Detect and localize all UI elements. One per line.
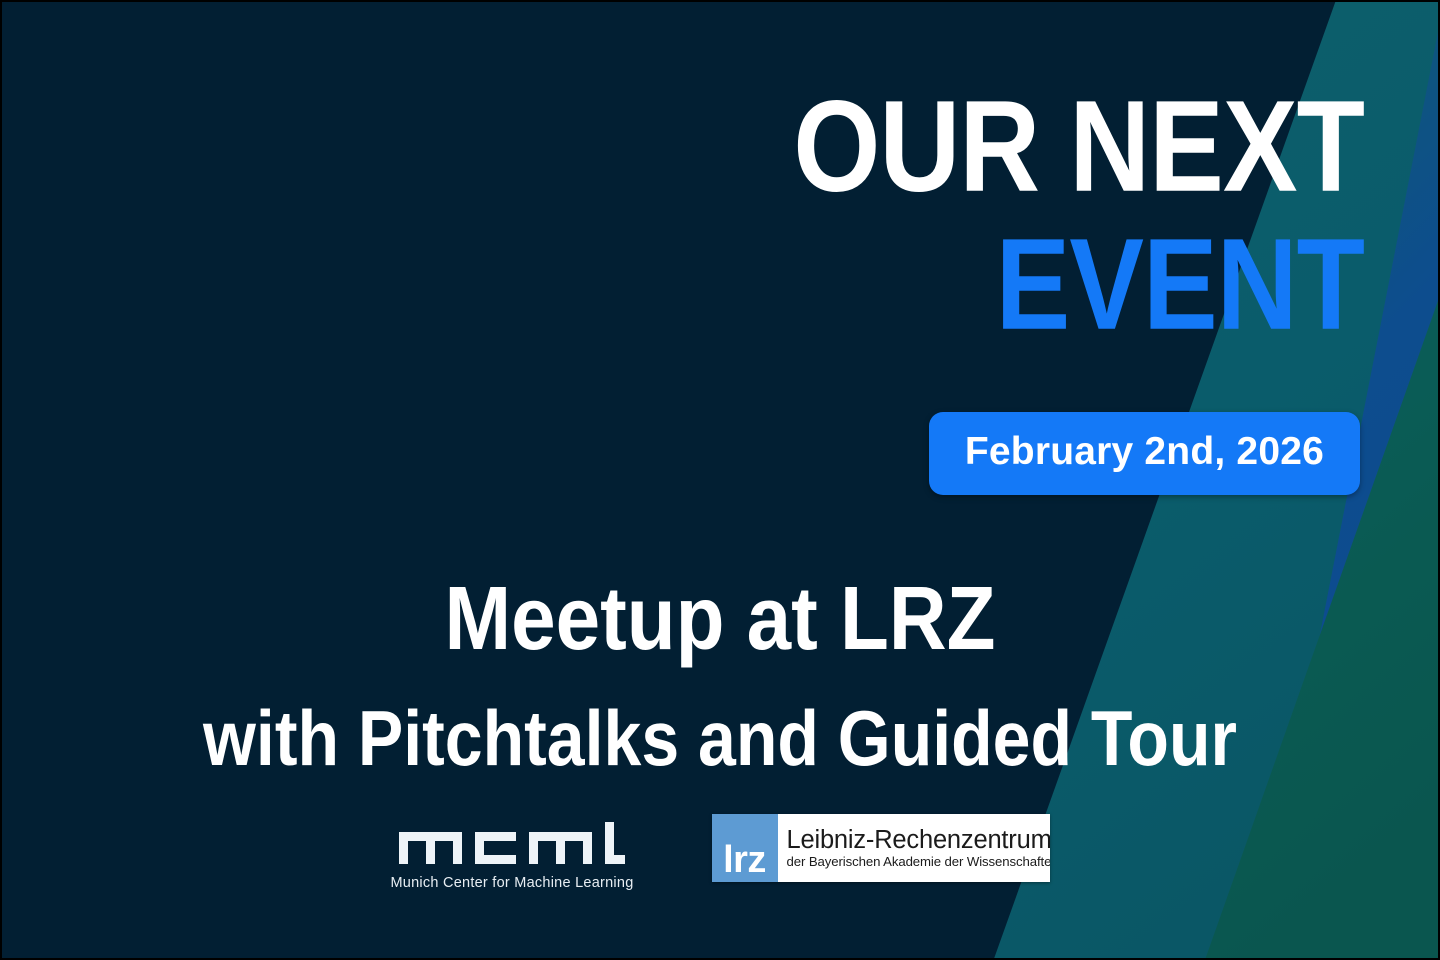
headline: OUR NEXT EVENT xyxy=(793,84,1364,329)
event-poster: OUR NEXT EVENT February 2nd, 2026 Meetup… xyxy=(0,0,1440,960)
mcml-logo: Munich Center for Machine Learning xyxy=(390,814,633,891)
lrz-wordmark: lrz xyxy=(723,844,766,876)
mcml-tagline: Munich Center for Machine Learning xyxy=(390,875,633,891)
headline-line-2: EVENT xyxy=(793,222,1364,347)
lrz-logo: lrz Leibniz-Rechenzentrum der Bayerische… xyxy=(712,814,1050,882)
headline-line-1: OUR NEXT xyxy=(793,84,1364,209)
date-badge-text: February 2nd, 2026 xyxy=(965,432,1324,471)
event-title-line-1: Meetup at LRZ xyxy=(2,574,1438,664)
lrz-text-block: Leibniz-Rechenzentrum der Bayerischen Ak… xyxy=(778,814,1050,882)
lrz-name: Leibniz-Rechenzentrum xyxy=(787,827,1050,853)
lrz-subtitle: der Bayerischen Akademie der Wissenschaf… xyxy=(787,854,1050,869)
date-badge: February 2nd, 2026 xyxy=(929,412,1360,495)
logo-row: Munich Center for Machine Learning lrz L… xyxy=(2,814,1438,891)
event-title-line-2: with Pitchtalks and Guided Tour xyxy=(2,700,1438,778)
mcml-wordmark-icon xyxy=(399,822,625,864)
event-title-block: Meetup at LRZ with Pitchtalks and Guided… xyxy=(2,574,1438,768)
lrz-mark-square: lrz xyxy=(712,814,778,882)
